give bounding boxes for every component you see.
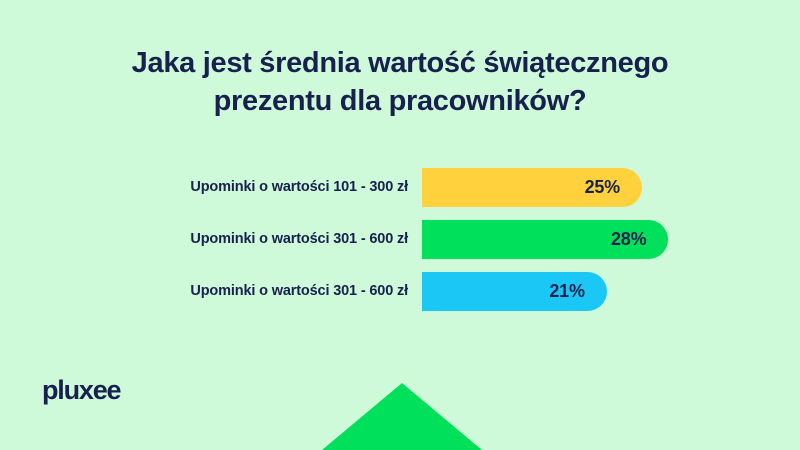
bar-row: Upominki o wartości 101 - 300 zł 25%	[0, 168, 800, 207]
bar-value-label: 21%	[549, 272, 584, 311]
bar-value-label: 25%	[585, 168, 620, 207]
bar-label: Upominki o wartości 301 - 600 zł	[190, 220, 408, 259]
page-title-line-2: prezentu dla pracowników?	[60, 82, 740, 120]
bar-fill: 28%	[422, 220, 668, 259]
page-title-line-1: Jaka jest średnia wartość świątecznego	[60, 44, 740, 82]
infographic-canvas: Jaka jest średnia wartość świątecznego p…	[0, 0, 800, 450]
bar-fill: 25%	[422, 168, 642, 207]
bar-label: Upominki o wartości 101 - 300 zł	[190, 168, 408, 207]
bar-track: 28%	[422, 220, 668, 259]
bar-fill: 21%	[422, 272, 607, 311]
pluxee-logo: pluxee	[42, 375, 120, 406]
bar-row: Upominki o wartości 301 - 600 zł 21%	[0, 272, 800, 311]
bar-track: 25%	[422, 168, 642, 207]
bar-track: 21%	[422, 272, 607, 311]
bar-row: Upominki o wartości 301 - 600 zł 28%	[0, 220, 800, 259]
bar-label: Upominki o wartości 301 - 600 zł	[190, 272, 408, 311]
triangle-up-icon	[322, 383, 482, 450]
page-title: Jaka jest średnia wartość świątecznego p…	[60, 44, 740, 120]
bar-chart: Upominki o wartości 101 - 300 zł 25% Upo…	[0, 168, 800, 311]
bar-value-label: 28%	[611, 220, 646, 259]
